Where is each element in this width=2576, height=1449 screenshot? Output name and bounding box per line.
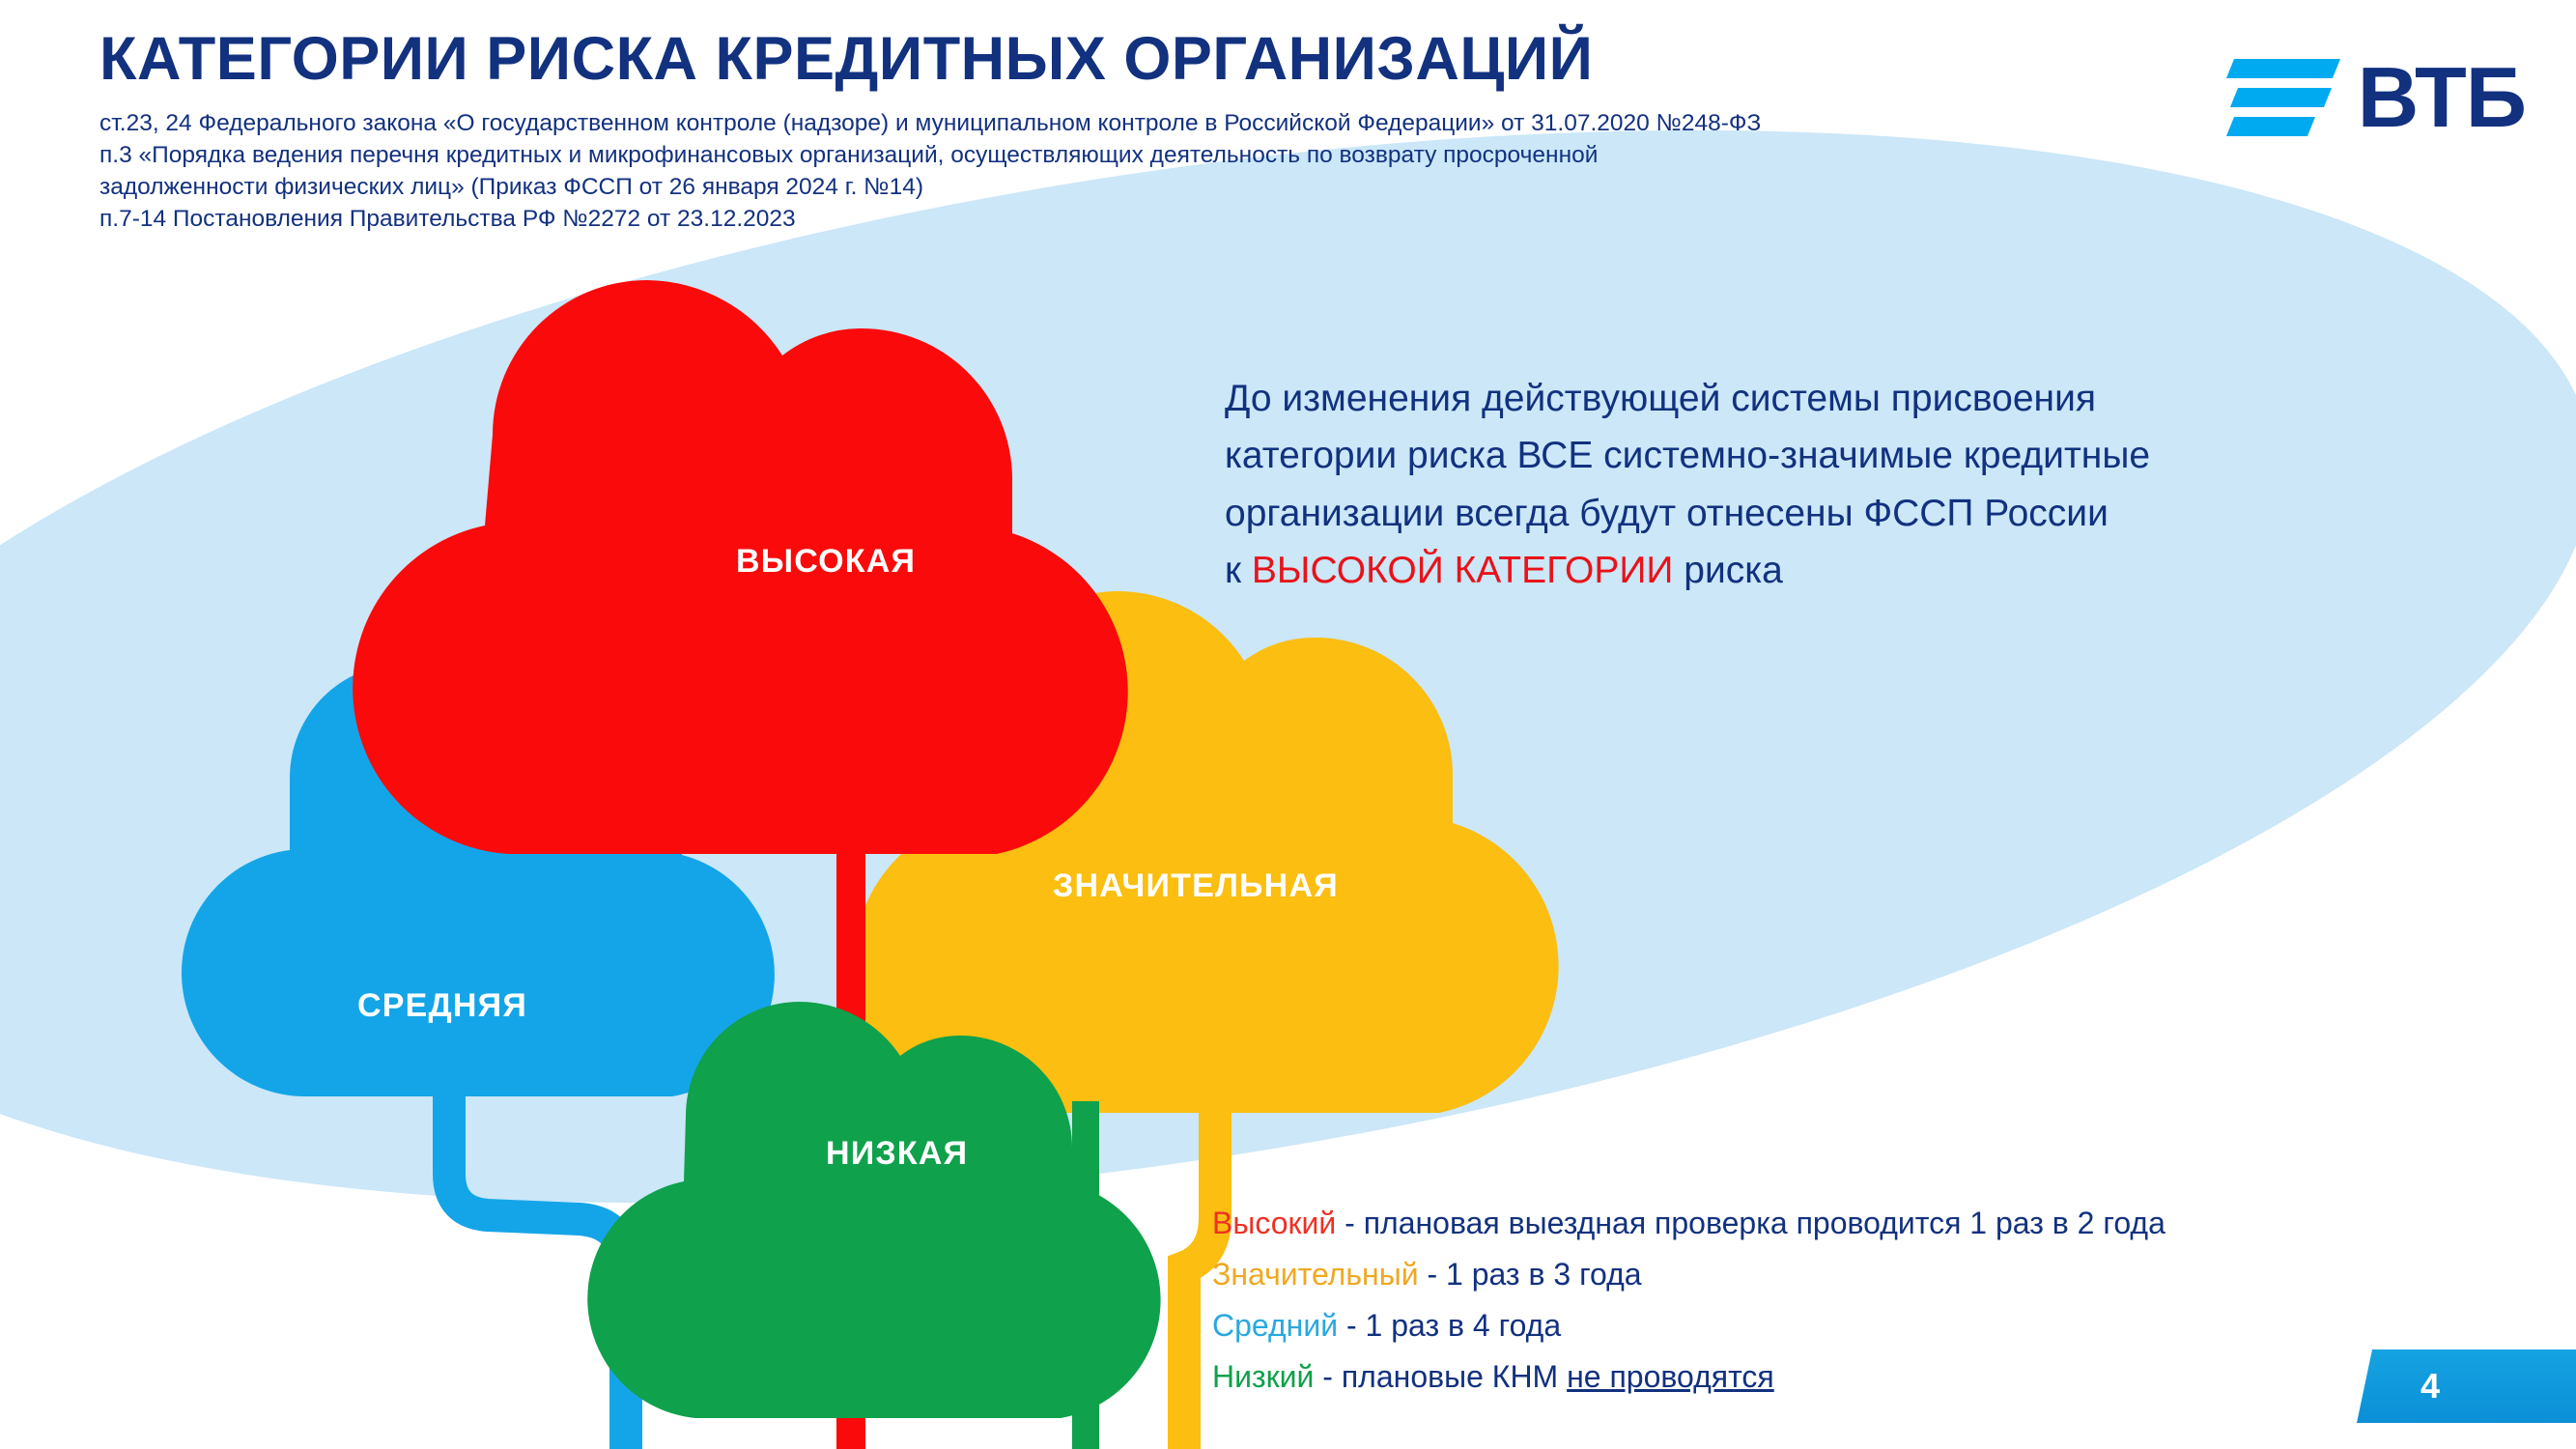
legend-key-medium: Средний (1212, 1308, 1338, 1343)
vtb-logo: ВТБ (2230, 53, 2526, 142)
legend-row-high: Высокий - плановая выездная проверка про… (1212, 1198, 2166, 1249)
legend-key-significant: Значительный (1212, 1257, 1419, 1292)
vtb-bars-icon (2230, 53, 2336, 142)
legend-key-high: Высокий (1212, 1206, 1336, 1240)
page-title: КАТЕГОРИИ РИСКА КРЕДИТНЫХ ОРГАНИЗАЦИЙ (99, 27, 2080, 91)
legend-underlined-low: не проводятся (1567, 1359, 1774, 1394)
subtitle-line-3: задолженности физических лиц» (Приказ ФС… (99, 172, 2080, 204)
legend-text-significant: - 1 раз в 3 года (1419, 1257, 1642, 1292)
callout-line-3: организации всегда будут отнесены ФССП Р… (1225, 485, 2326, 542)
legend-text-low: - плановые КНМ (1314, 1359, 1567, 1394)
tree-high-crown (353, 280, 1128, 854)
legend-key-low: Низкий (1212, 1359, 1314, 1394)
subtitle-line-4: п.7-14 Постановления Правительства РФ №2… (99, 204, 2080, 236)
callout-paragraph: До изменения действующей системы присвое… (1225, 370, 2326, 599)
callout-line-2: категории риска ВСЕ системно-значимые кр… (1225, 427, 2326, 484)
legend-row-medium: Средний - 1 раз в 4 года (1212, 1300, 2166, 1351)
callout-line-4-suffix: риска (1673, 550, 1782, 591)
legend-text-high: - плановая выездная проверка проводится … (1336, 1206, 2166, 1240)
callout-line-4-prefix: к (1225, 550, 1252, 591)
callout-highlight: ВЫСОКОЙ КАТЕГОРИИ (1252, 550, 1674, 591)
subtitle-line-2: п.3 «Порядка ведения перечня кредитных и… (99, 140, 2080, 172)
page-number: 4 (2420, 1366, 2440, 1406)
slide-header: КАТЕГОРИИ РИСКА КРЕДИТНЫХ ОРГАНИЗАЦИЙ ст… (99, 27, 2080, 235)
callout-line-4: к ВЫСОКОЙ КАТЕГОРИИ риска (1225, 542, 2326, 599)
page-number-badge: 4 (2357, 1350, 2576, 1423)
slide-canvas: КАТЕГОРИИ РИСКА КРЕДИТНЫХ ОРГАНИЗАЦИЙ ст… (0, 0, 2576, 1449)
legend-row-significant: Значительный - 1 раз в 3 года (1212, 1249, 2166, 1300)
callout-line-1: До изменения действующей системы присвое… (1225, 370, 2326, 427)
legend-row-low: Низкий - плановые КНМ не проводятся (1212, 1351, 2166, 1403)
legend-text-medium: - 1 раз в 4 года (1338, 1308, 1561, 1343)
risk-frequency-legend: Высокий - плановая выездная проверка про… (1212, 1198, 2166, 1403)
subtitle-line-1: ст.23, 24 Федерального закона «О государ… (99, 108, 2080, 140)
vtb-wordmark: ВТБ (2358, 55, 2526, 140)
